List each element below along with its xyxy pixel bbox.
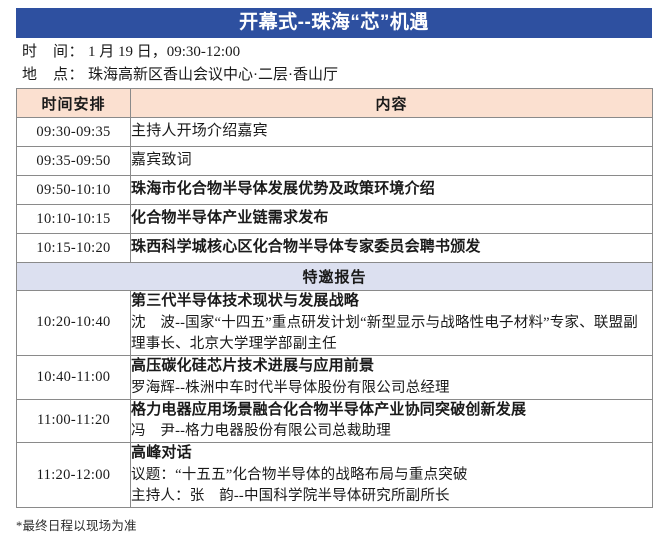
table-row: 11:00-11:20 格力电器应用场景融合化合物半导体产业协同突破创新发展 冯… xyxy=(17,399,653,443)
row-topic: 珠西科学城核心区化合物半导体专家委员会聘书颁发 xyxy=(131,237,652,259)
row-content: 格力电器应用场景融合化合物半导体产业协同突破创新发展 冯 尹--格力电器股份有限… xyxy=(131,399,653,443)
table-row: 10:15-10:20 珠西科学城核心区化合物半导体专家委员会聘书颁发 xyxy=(17,234,653,263)
row-content: 高压碳化硅芯片技术进展与应用前景 罗海辉--株洲中车时代半导体股份有限公司总经理 xyxy=(131,355,653,399)
row-content: 珠西科学城核心区化合物半导体专家委员会聘书颁发 xyxy=(131,234,653,263)
agenda-table: 时间安排 内容 09:30-09:35 主持人开场介绍嘉宾 09:35-09:5… xyxy=(16,88,653,508)
row-time: 10:10-10:15 xyxy=(17,205,131,234)
row-content: 主持人开场介绍嘉宾 xyxy=(131,118,653,147)
agenda-page: 开幕式--珠海“芯”机遇 时 间： 1 月 19 日，09:30-12:00 地… xyxy=(0,0,668,552)
table-header-row: 时间安排 内容 xyxy=(17,89,653,118)
table-row: 10:20-10:40 第三代半导体技术现状与发展战略 沈 波--国家“十四五”… xyxy=(17,291,653,356)
table-row: 10:40-11:00 高压碳化硅芯片技术进展与应用前景 罗海辉--株洲中车时代… xyxy=(17,355,653,399)
row-topic: 嘉宾致词 xyxy=(131,150,652,172)
panel-moderator: 主持人：张 韵--中国科学院半导体研究所副所长 xyxy=(131,486,652,507)
table-row: 10:10-10:15 化合物半导体产业链需求发布 xyxy=(17,205,653,234)
row-content: 嘉宾致词 xyxy=(131,147,653,176)
event-meta: 时 间： 1 月 19 日，09:30-12:00 地 点： 珠海高新区香山会议… xyxy=(16,40,652,86)
row-topic: 格力电器应用场景融合化合物半导体产业协同突破创新发展 xyxy=(131,400,652,422)
page-title: 开幕式--珠海“芯”机遇 xyxy=(16,8,652,38)
panel-subject: 议题：“十五五”化合物半导体的战略布局与重点突破 xyxy=(131,465,652,486)
table-row: 09:50-10:10 珠海市化合物半导体发展优势及政策环境介绍 xyxy=(17,176,653,205)
row-time: 09:50-10:10 xyxy=(17,176,131,205)
row-content: 高峰对话 议题：“十五五”化合物半导体的战略布局与重点突破 主持人：张 韵--中… xyxy=(131,443,653,508)
row-speaker: 沈 波--国家“十四五”重点研发计划“新型显示与战略性电子材料”专家、联盟副理事… xyxy=(131,313,652,355)
column-header-time: 时间安排 xyxy=(17,89,131,118)
row-content: 第三代半导体技术现状与发展战略 沈 波--国家“十四五”重点研发计划“新型显示与… xyxy=(131,291,653,356)
row-topic: 高峰对话 xyxy=(131,443,652,465)
table-row: 09:30-09:35 主持人开场介绍嘉宾 xyxy=(17,118,653,147)
row-time: 09:35-09:50 xyxy=(17,147,131,176)
row-time: 10:20-10:40 xyxy=(17,291,131,356)
row-topic: 高压碳化硅芯片技术进展与应用前景 xyxy=(131,356,652,378)
table-row-panel: 11:20-12:00 高峰对话 议题：“十五五”化合物半导体的战略布局与重点突… xyxy=(17,443,653,508)
table-row: 09:35-09:50 嘉宾致词 xyxy=(17,147,653,176)
row-speaker: 罗海辉--株洲中车时代半导体股份有限公司总经理 xyxy=(131,378,652,399)
row-content: 珠海市化合物半导体发展优势及政策环境介绍 xyxy=(131,176,653,205)
meta-row-time: 时 间： 1 月 19 日，09:30-12:00 xyxy=(16,40,652,63)
section-band-row: 特邀报告 xyxy=(17,263,653,291)
row-topic: 化合物半导体产业链需求发布 xyxy=(131,208,652,230)
row-topic: 第三代半导体技术现状与发展战略 xyxy=(131,291,652,313)
meta-value-place: 珠海高新区香山会议中心·二层·香山厅 xyxy=(88,63,652,84)
row-topic: 主持人开场介绍嘉宾 xyxy=(131,121,652,143)
column-header-content: 内容 xyxy=(131,89,653,118)
row-content: 化合物半导体产业链需求发布 xyxy=(131,205,653,234)
row-speaker: 冯 尹--格力电器股份有限公司总裁助理 xyxy=(131,421,652,442)
row-topic: 珠海市化合物半导体发展优势及政策环境介绍 xyxy=(131,179,652,201)
row-time: 09:30-09:35 xyxy=(17,118,131,147)
section-band-label: 特邀报告 xyxy=(17,263,653,291)
meta-label-time: 时 间： xyxy=(16,40,88,61)
meta-value-time: 1 月 19 日，09:30-12:00 xyxy=(88,40,652,61)
row-time: 11:00-11:20 xyxy=(17,399,131,443)
footnote: *最终日程以现场为准 xyxy=(16,515,137,534)
row-time: 10:40-11:00 xyxy=(17,355,131,399)
meta-label-place: 地 点： xyxy=(16,63,88,84)
row-time: 11:20-12:00 xyxy=(17,443,131,508)
meta-row-place: 地 点： 珠海高新区香山会议中心·二层·香山厅 xyxy=(16,63,652,86)
row-time: 10:15-10:20 xyxy=(17,234,131,263)
